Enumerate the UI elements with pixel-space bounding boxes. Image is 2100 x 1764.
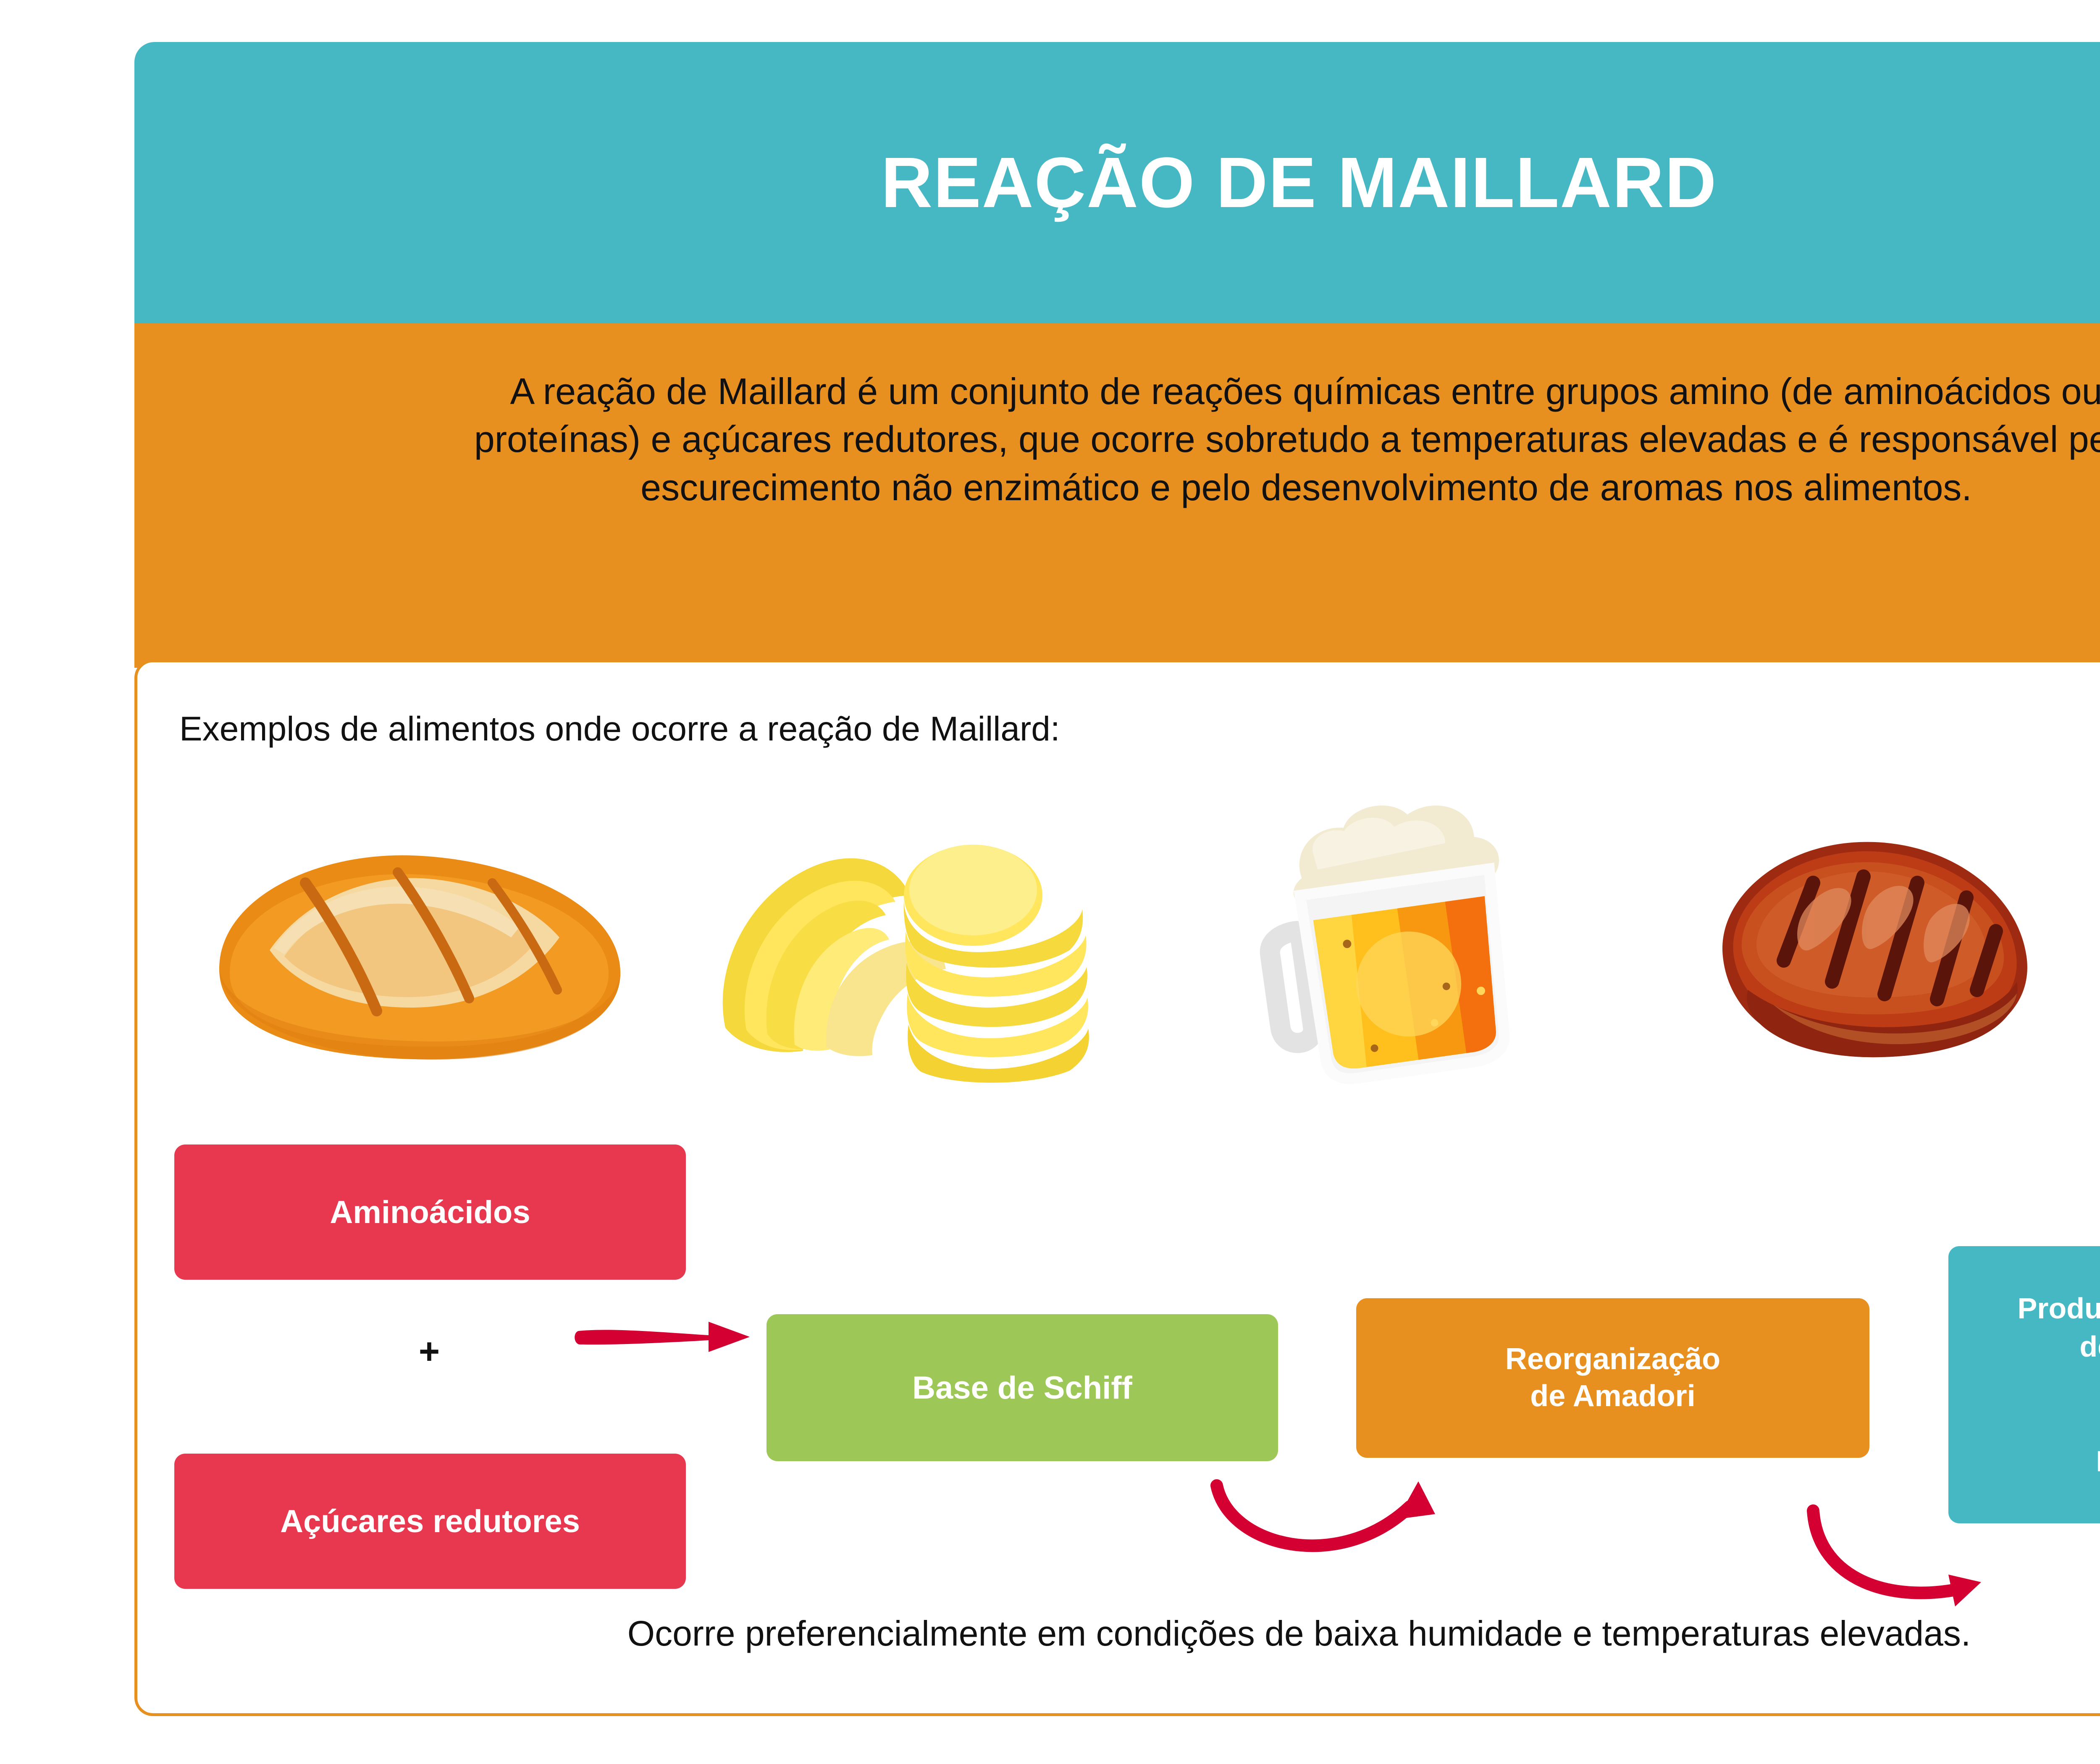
flow-box-producao-line1: Produção de compostos [2018,1292,2100,1325]
grilled-steak-icon [1683,793,2061,1087]
reaction-flow-diagram: Aminoácidos + Açúcares redutores Base de… [137,1129,2100,1591]
food-illustration-row [163,793,2100,1095]
infographic-poster: REAÇÃO DE MAILLARD A reação de Maillard … [0,0,2100,1764]
bread-loaf-icon [179,793,650,1087]
flow-box-schiff-label: Base de Schiff [912,1370,1132,1406]
arrow-right-icon [574,1309,755,1364]
flow-box-producao-line5: Melanoidinas [2096,1445,2100,1478]
potato-chips-icon [700,793,1120,1087]
flow-box-aminoacidos-label: Aminoácidos [330,1194,530,1231]
flow-box-amadori-line1: Reorganização [1505,1342,1720,1376]
flow-box-aminoacidos: Aminoácidos [174,1144,686,1280]
flow-box-acucares: Açúcares redutores [174,1454,686,1589]
card-footer-note: Ocorre preferencialmente em condições de… [137,1616,2100,1651]
flow-box-producao-line2: de aroma e cor: [2079,1330,2100,1363]
intro-band: A reação de Maillard é um conjunto de re… [134,323,2100,668]
flow-box-producao-compostos: Produção de compostos de aroma e cor: Pi… [1948,1246,2100,1523]
plus-operator: + [389,1333,469,1370]
flow-box-acucares-label: Açúcares redutores [280,1503,580,1540]
examples-heading: Exemplos de alimentos onde ocorre a reaç… [179,712,1060,746]
poster-header: REAÇÃO DE MAILLARD [134,42,2100,323]
intro-text: A reação de Maillard é um conjunto de re… [454,367,2100,512]
flow-box-reorganizacao-amadori: Reorganização de Amadori [1356,1298,1869,1458]
flow-box-amadori-line2: de Amadori [1530,1379,1695,1413]
beer-mug-icon [1221,793,1565,1087]
page-title: REAÇÃO DE MAILLARD [881,147,1717,218]
examples-card: Exemplos de alimentos onde ocorre a reaç… [134,659,2100,1716]
